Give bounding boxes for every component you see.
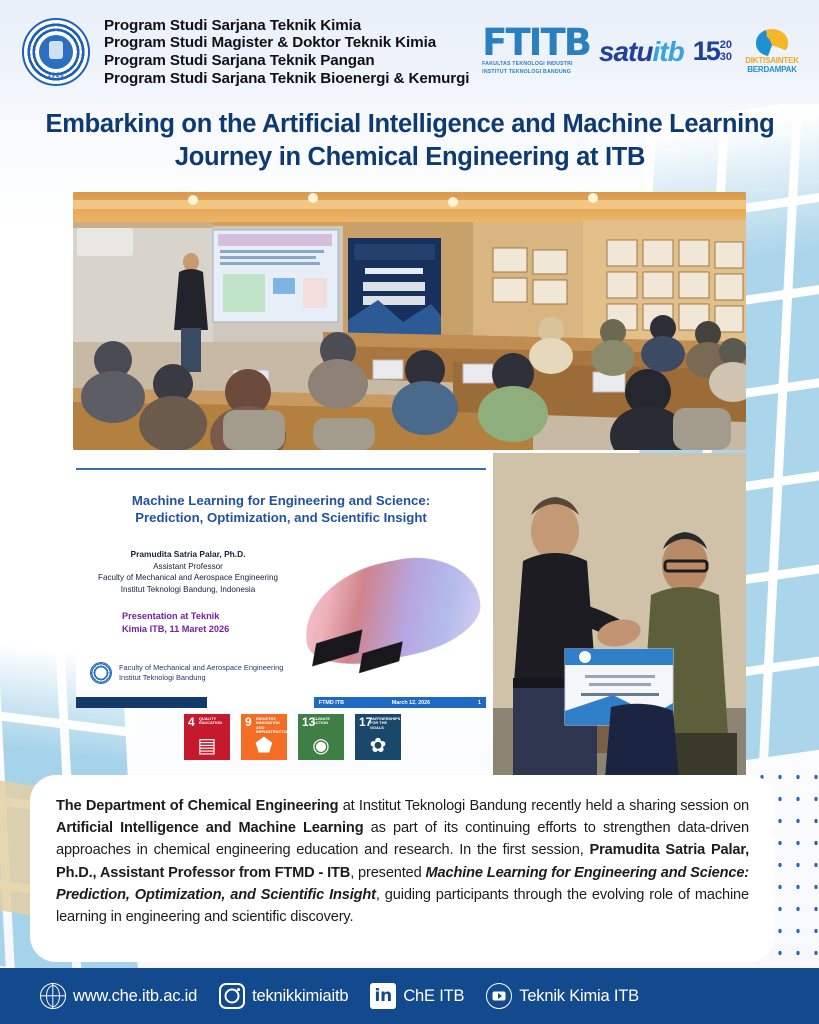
anniversary-years: 20 30 bbox=[720, 40, 732, 63]
slide-bottom-bar: FTMD ITB March 12, 2026 1 bbox=[76, 697, 486, 708]
slide-speaker-name: Pramudita Satria Palar, Ph.D. bbox=[76, 548, 300, 560]
photo-lecture-hall-art bbox=[73, 192, 746, 450]
poster-footer: www.che.itb.ac.id teknikkimiaitb in ChE … bbox=[0, 968, 819, 1024]
footer-linkedin[interactable]: in ChE ITB bbox=[370, 983, 464, 1009]
globe-icon bbox=[40, 983, 66, 1009]
program-item-3: Program Studi Sarjana Teknik Pangan bbox=[104, 52, 469, 70]
poster-header: 1920 Program Studi Sarjana Teknik Kimia … bbox=[0, 0, 819, 104]
satu-itb-logo: satuitb bbox=[599, 38, 684, 66]
satu-itb-word-satu: satu bbox=[599, 36, 653, 67]
anniversary-number: 15 bbox=[693, 36, 719, 67]
article-paragraph: The Department of Chemical Engineering a… bbox=[56, 795, 749, 928]
slide-title-line-2: Prediction, Optimization, and Scientific… bbox=[94, 509, 468, 526]
slide-footer-page: 1 bbox=[478, 700, 481, 706]
slide-logo-line-2: Institut Teknologi Bandung bbox=[119, 673, 283, 683]
slide-speaker-role: Assistant Professor bbox=[76, 561, 300, 573]
slide-speaker-faculty: Faculty of Mechanical and Aerospace Engi… bbox=[76, 572, 300, 584]
sdg-glyph-eye-icon: ◉ bbox=[298, 736, 344, 756]
slide-bottom-bar-info: FTMD ITB March 12, 2026 1 bbox=[314, 697, 486, 708]
sdg-icon-9: 9 INDUSTRY, INNOVATION AND INFRASTRUCTUR… bbox=[241, 714, 287, 760]
poster-root: 1920 Program Studi Sarjana Teknik Kimia … bbox=[0, 0, 819, 1024]
sdg-icon-13: 13 CLIMATE ACTION ◉ bbox=[298, 714, 344, 760]
slide-speaker-block: Pramudita Satria Palar, Ph.D. Assistant … bbox=[76, 548, 300, 595]
header-logo-group: FTITB FAKULTAS TEKNOLOGI INDUSTRI INSTIT… bbox=[482, 28, 803, 75]
diktisaintek-logo: DIKTISAINTEK BERDAMPAK bbox=[741, 29, 803, 74]
satu-itb-word-itb: itb bbox=[652, 36, 683, 67]
linkedin-icon: in bbox=[370, 983, 396, 1009]
program-item-1: Program Studi Sarjana Teknik Kimia bbox=[104, 17, 469, 35]
youtube-icon bbox=[486, 983, 512, 1009]
sdg-glyph-book-icon: ▤ bbox=[184, 736, 230, 756]
footer-website[interactable]: www.che.itb.ac.id bbox=[40, 983, 197, 1009]
slide-itb-seal-icon bbox=[90, 662, 112, 684]
article-text-1: at Institut Teknologi Bandung recently h… bbox=[338, 798, 749, 814]
sdg-number-4: 4 bbox=[188, 716, 195, 728]
sdg-label-4: QUALITY EDUCATION bbox=[199, 717, 227, 726]
slide-title: Machine Learning for Engineering and Sci… bbox=[94, 492, 468, 526]
article-bold-department: The Department of Chemical Engineering bbox=[56, 798, 338, 814]
anniversary-1520-logo: 15 20 30 bbox=[693, 36, 732, 67]
program-item-2: Program Studi Magister & Doktor Teknik K… bbox=[104, 34, 469, 52]
photo-certificate-handover-art bbox=[493, 453, 746, 778]
slide-footer-logo: Faculty of Mechanical and Aerospace Engi… bbox=[90, 662, 283, 684]
fti-itb-sub-2: INSTITUT TEKNOLOGI BANDUNG bbox=[482, 69, 571, 76]
article-text-3: , presented bbox=[350, 865, 425, 881]
slide-speaker-institution: Institut Teknologi Bandung, Indonesia bbox=[76, 584, 300, 596]
fti-itb-logo: FTITB FAKULTAS TEKNOLOGI INDUSTRI INSTIT… bbox=[482, 28, 590, 75]
anniversary-year-bottom: 30 bbox=[720, 52, 732, 64]
slide-footer-text: Faculty of Mechanical and Aerospace Engi… bbox=[119, 663, 283, 684]
footer-youtube-label: Teknik Kimia ITB bbox=[519, 987, 639, 1006]
sdg-label-13: CLIMATE ACTION bbox=[313, 717, 341, 726]
sdg-icon-row: 4 QUALITY EDUCATION ▤ 9 INDUSTRY, INNOVA… bbox=[184, 714, 401, 760]
photo-certificate-handover bbox=[493, 453, 746, 778]
slide-logo-line-1: Faculty of Mechanical and Aerospace Engi… bbox=[119, 663, 283, 673]
slide-aircraft-graphic bbox=[294, 546, 486, 674]
sdg-number-9: 9 bbox=[245, 716, 252, 728]
sdg-label-17: PARTNERSHIPS FOR THE GOALS bbox=[370, 717, 398, 730]
article-card: The Department of Chemical Engineering a… bbox=[30, 775, 775, 962]
article-bold-aiml: Artificial Intelligence and Machine Lear… bbox=[56, 820, 363, 836]
itb-seal-icon: 1920 bbox=[22, 18, 90, 86]
slide-footer-date: March 12, 2026 bbox=[392, 700, 430, 706]
program-list: Program Studi Sarjana Teknik Kimia Progr… bbox=[104, 17, 469, 88]
photo-presentation-slide: Machine Learning for Engineering and Sci… bbox=[76, 468, 486, 708]
program-item-4: Program Studi Sarjana Teknik Bioenergi &… bbox=[104, 70, 469, 88]
fti-itb-mark: FTITB bbox=[482, 28, 590, 58]
instagram-icon bbox=[219, 983, 245, 1009]
footer-instagram[interactable]: teknikkimiaitb bbox=[219, 983, 348, 1009]
diktisaintek-mark-icon bbox=[756, 29, 788, 56]
footer-website-label: www.che.itb.ac.id bbox=[73, 987, 197, 1006]
slide-title-line-1: Machine Learning for Engineering and Sci… bbox=[94, 492, 468, 509]
fti-itb-sub-1: FAKULTAS TEKNOLOGI INDUSTRI bbox=[482, 61, 573, 68]
footer-instagram-label: teknikkimiaitb bbox=[252, 987, 348, 1006]
page-title: Embarking on the Artificial Intelligence… bbox=[40, 108, 780, 174]
diktisaintek-line-1: DIKTISAINTEK bbox=[745, 56, 799, 65]
footer-youtube[interactable]: Teknik Kimia ITB bbox=[486, 983, 639, 1009]
diktisaintek-line-2: BERDAMPAK bbox=[747, 65, 797, 74]
sdg-glyph-cubes-icon: ⬟ bbox=[241, 736, 287, 756]
sdg-icon-4: 4 QUALITY EDUCATION ▤ bbox=[184, 714, 230, 760]
photo-lecture-hall bbox=[73, 192, 746, 450]
itb-seal-year: 1920 bbox=[24, 73, 88, 79]
sdg-label-9: INDUSTRY, INNOVATION AND INFRASTRUCTURE bbox=[256, 717, 284, 735]
footer-linkedin-label: ChE ITB bbox=[403, 987, 464, 1006]
slide-footer-org: FTMD ITB bbox=[319, 700, 344, 706]
sdg-glyph-rings-icon: ✿ bbox=[355, 736, 401, 756]
sdg-icon-17: 17 PARTNERSHIPS FOR THE GOALS ✿ bbox=[355, 714, 401, 760]
